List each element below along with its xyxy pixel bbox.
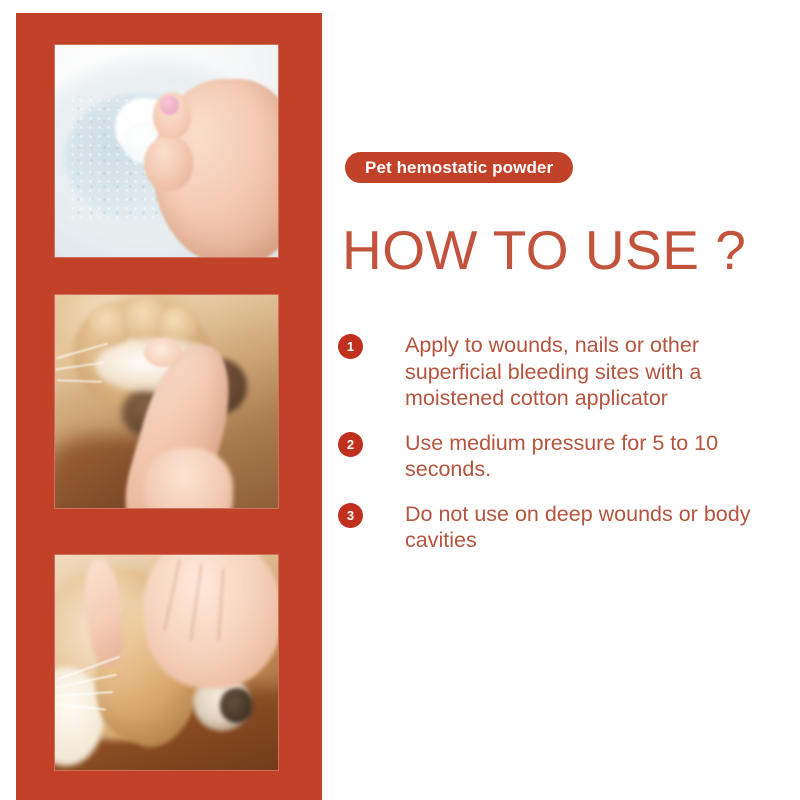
step-text: Use medium pressure for 5 to 10 seconds. — [405, 430, 787, 483]
step-number-badge: 2 — [338, 432, 363, 457]
product-name-badge: Pet hemostatic powder — [345, 152, 573, 183]
step-number-badge: 3 — [338, 503, 363, 528]
photo-1-canvas — [55, 45, 278, 257]
photo-2-canvas — [55, 295, 278, 508]
steps-list: 1 Apply to wounds, nails or other superf… — [338, 332, 798, 572]
photo-cotton-ball-in-powder — [55, 45, 278, 257]
step-number-badge: 1 — [338, 334, 363, 359]
page-title: HOW TO USE ? — [342, 221, 746, 279]
photo-3-canvas — [55, 555, 278, 770]
step-item: 2 Use medium pressure for 5 to 10 second… — [338, 430, 798, 483]
photo-holding-cat-paw — [55, 555, 278, 770]
pink-fingernail-shape — [160, 96, 179, 115]
photo-strip-panel — [16, 13, 322, 800]
photo-applying-powder-to-paw — [55, 295, 278, 508]
step-item: 1 Apply to wounds, nails or other superf… — [338, 332, 798, 412]
thumb-shape — [144, 136, 193, 191]
step-item: 3 Do not use on deep wounds or body cavi… — [338, 501, 798, 554]
step-text: Apply to wounds, nails or other superfic… — [405, 332, 783, 412]
infographic-page: Pet hemostatic powder HOW TO USE ? 1 App… — [0, 0, 800, 800]
lower-hand-shape — [144, 448, 233, 508]
step-text: Do not use on deep wounds or body caviti… — [405, 501, 797, 554]
instructions-panel: Pet hemostatic powder HOW TO USE ? 1 App… — [322, 0, 800, 800]
cat-claw-shape — [220, 688, 253, 722]
